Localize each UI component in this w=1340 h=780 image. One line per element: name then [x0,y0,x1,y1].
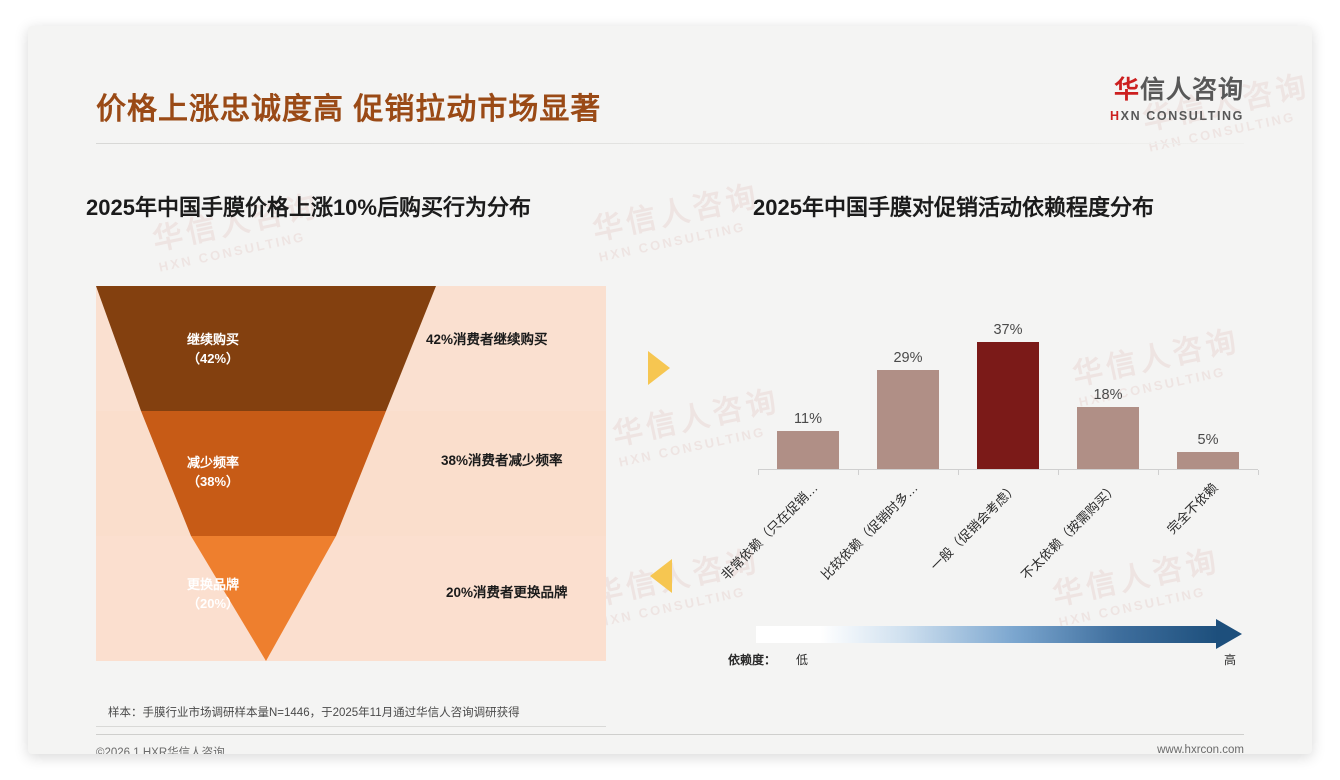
watermark-line2: HXN CONSULTING [597,215,766,265]
brand-logo: 华信人咨询 HXN CONSULTING [1110,78,1244,123]
x-tick-1 [858,470,859,475]
bar-1[interactable] [877,370,939,469]
bar-value-label-4: 5% [1173,432,1243,448]
funnel-label-2: 减少频率 （38%） [133,454,293,492]
funnel-label-1-text: 继续购买 [133,331,293,350]
bar-3[interactable] [1077,407,1139,469]
triangle-left-icon [650,559,672,593]
logo-letter-h: H [1110,109,1121,123]
funnel-label-3-pct: （20%） [133,595,293,614]
x-axis-label-3: 不太依赖（按需购买） [1002,478,1122,598]
funnel-label-1: 继续购买 （42%） [133,331,293,369]
funnel-note-3: 20%消费者更换品牌 [446,581,568,601]
legend-high-label: 高 [1224,651,1236,668]
header-divider [96,143,1244,144]
bar-4[interactable] [1177,452,1239,469]
funnel-note-1: 42%消费者继续购买 [426,328,548,348]
x-axis-line [758,469,1258,470]
logo-chinese-rest: 信人咨询 [1140,76,1244,104]
watermark-line2: HXN CONSULTING [597,580,766,630]
footer-website: www.hxrcon.com [1157,744,1244,754]
legend-low-label: 低 [796,651,808,668]
x-tick-2 [958,470,959,475]
funnel-label-2-text: 减少频率 [133,454,293,473]
logo-english: HXN CONSULTING [1110,109,1244,123]
x-tick-0 [758,470,759,475]
slide-card: 华信人咨询 HXN CONSULTING 华信人咨询 HXN CONSULTIN… [28,26,1312,754]
bar-value-label-3: 18% [1073,387,1143,403]
bar-value-label-1: 29% [873,350,943,366]
funnel-note-2: 38%消费者减少频率 [441,449,563,469]
bar-0[interactable] [777,431,839,469]
funnel-chart: 继续购买 （42%） 减少频率 （38%） 更换品牌 （20%） 42%消费者继… [96,286,606,661]
watermark-line2: HXN CONSULTING [1057,580,1226,630]
watermark-line2: HXN CONSULTING [157,225,326,275]
page-title: 价格上涨忠诚度高 促销拉动市场显著 [96,84,601,128]
x-axis-label-4: 完全不依赖 [1102,478,1222,598]
logo-char-hua: 华 [1114,76,1140,104]
x-tick-4 [1158,470,1159,475]
watermark-line1: 华信人咨询 [588,171,763,249]
watermark: 华信人咨询 HXN CONSULTING [588,171,767,265]
triangle-right-icon [648,351,670,385]
x-axis-label-0: 非常依赖（只在促销… [702,478,822,598]
footer-copyright: ©2026.1 HXR华信人咨询 [96,744,225,754]
source-divider [96,726,606,727]
x-tick-end [1258,470,1259,475]
logo-english-rest: XN CONSULTING [1121,109,1244,123]
left-panel-title: 2025年中国手膜价格上涨10%后购买行为分布 [86,190,531,222]
bar-value-label-0: 11% [773,411,843,427]
funnel-label-3-text: 更换品牌 [133,576,293,595]
gradient-arrow-head-icon [1216,619,1242,649]
slide-header: 价格上涨忠诚度高 促销拉动市场显著 华信人咨询 HXN CONSULTING [28,26,1312,122]
bar-value-label-2: 37% [973,322,1043,338]
funnel-label-3: 更换品牌 （20%） [133,576,293,614]
x-tick-3 [1058,470,1059,475]
legend-caption: 依赖度： [728,651,776,668]
source-note: 样本：手膜行业市场调研样本量N=1446，于2025年11月通过华信人咨询调研获… [108,704,604,720]
right-panel-title: 2025年中国手膜对促销活动依赖程度分布 [753,190,1154,222]
x-axis-label-1: 比较依赖（促销时多… [802,478,922,598]
logo-chinese: 华信人咨询 [1110,78,1244,103]
funnel-label-1-pct: （42%） [133,350,293,369]
bar-2[interactable] [977,342,1039,469]
gradient-bar [756,626,1218,643]
x-axis-label-2: 一般（促销会考虑） [902,478,1022,598]
footer-divider [96,734,1244,735]
funnel-label-2-pct: （38%） [133,473,293,492]
dependency-gradient-legend: 依赖度： 低 高 [728,624,1268,670]
bar-plot-area: 11%29%37%18%5% [758,298,1258,470]
dependency-bar-chart: 11%29%37%18%5% [728,298,1258,470]
